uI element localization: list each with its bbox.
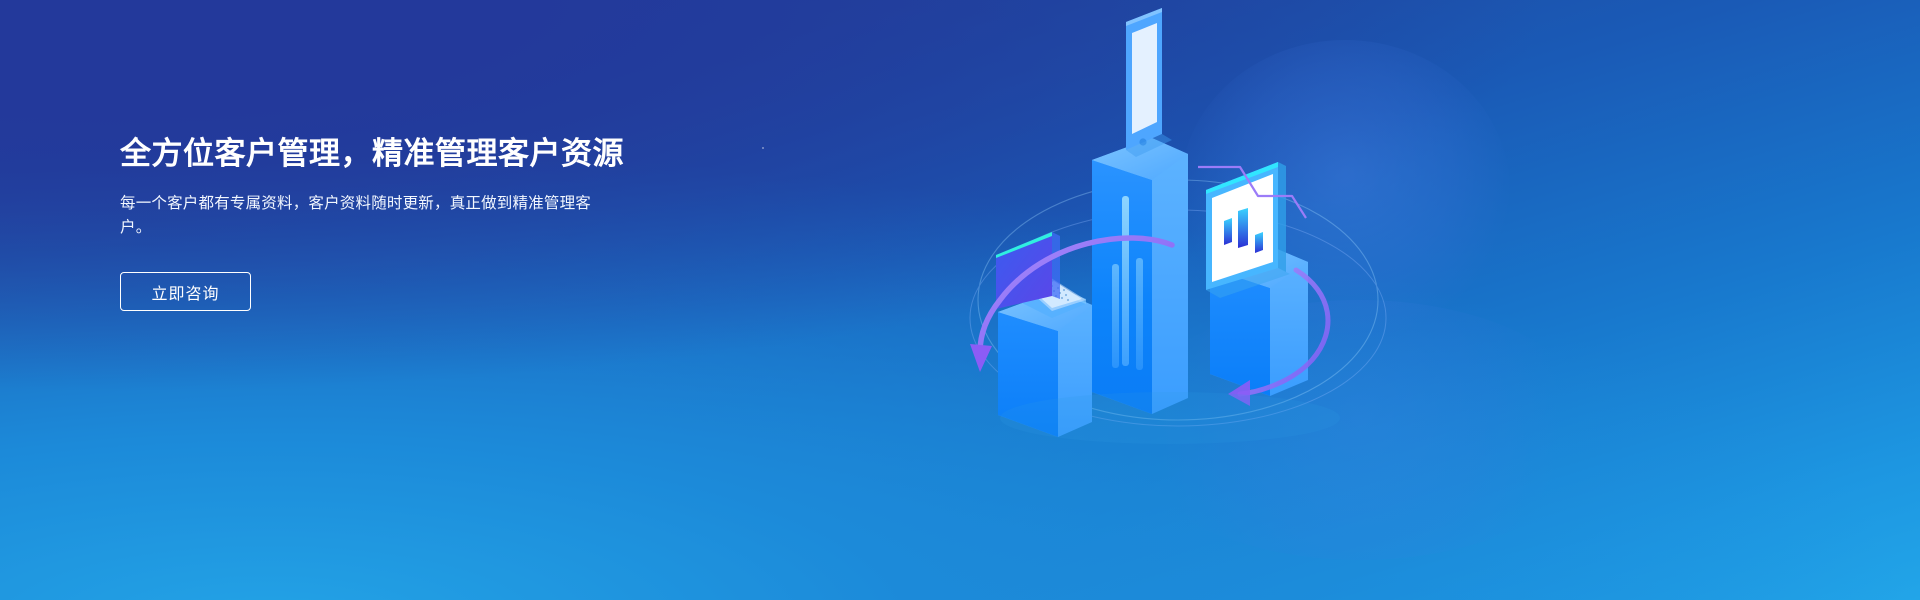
hero-subtitle: 每一个客户都有专属资料，客户资料随时更新，真正做到精准管理客户。 — [120, 192, 602, 240]
page-title: 全方位客户管理，精准管理客户资源 — [120, 132, 740, 176]
sparkle-dot — [762, 147, 764, 149]
tablet-device — [1126, 8, 1172, 157]
consult-now-button[interactable]: 立即咨询 — [120, 272, 251, 311]
hero-illustration — [940, 0, 1440, 600]
pillar-center — [1092, 138, 1188, 414]
hero-banner: 全方位客户管理，精准管理客户资源 每一个客户都有专属资料，客户资料随时更新，真正… — [0, 0, 1920, 600]
laptop-device — [996, 232, 1086, 318]
hero-copy: 全方位客户管理，精准管理客户资源 每一个客户都有专属资料，客户资料随时更新，真正… — [120, 132, 740, 311]
